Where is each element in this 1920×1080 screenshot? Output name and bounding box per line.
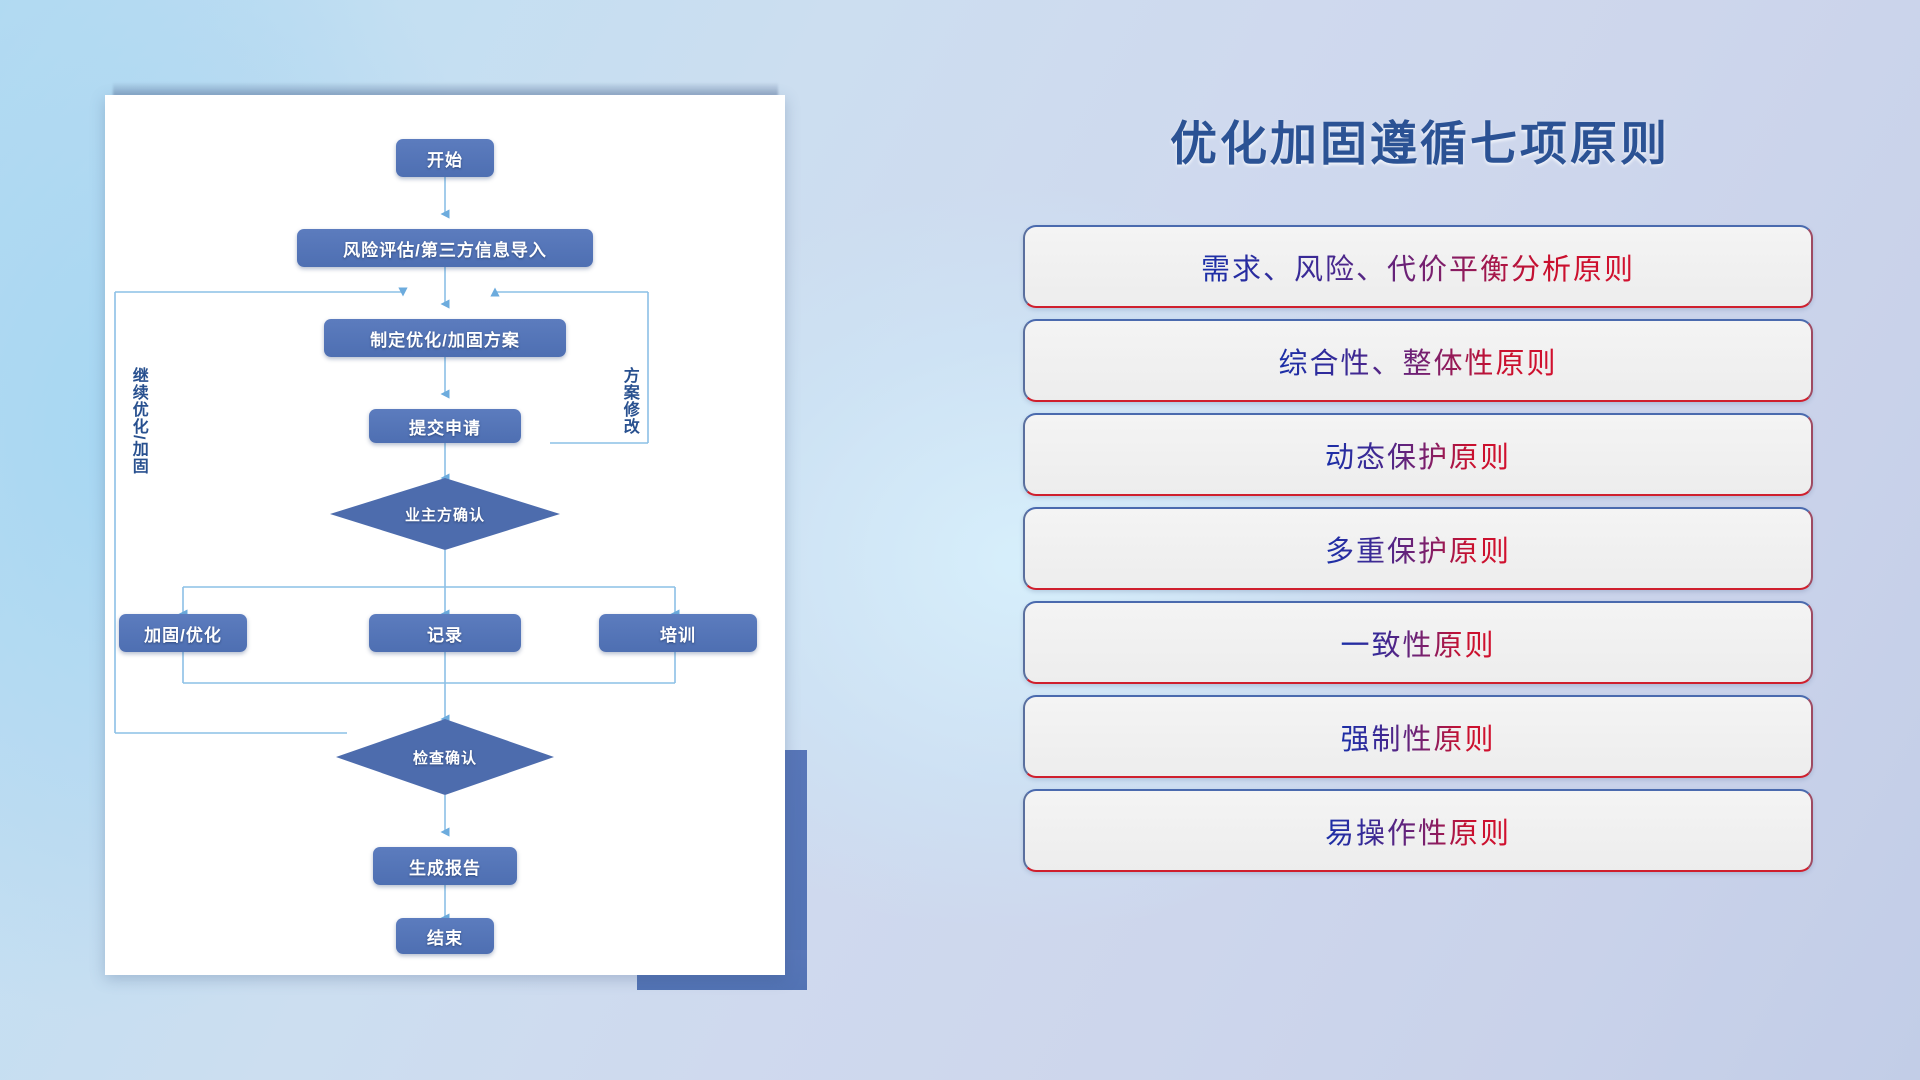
principle-card-1-label: 需求、风险、代价平衡分析原则 xyxy=(1201,246,1635,288)
flow-node-make-plan[interactable]: 制定优化/加固方案 xyxy=(324,319,566,357)
page-title: 优化加固遵循七项原则 xyxy=(1000,105,1840,174)
flow-node-record[interactable]: 记录 xyxy=(369,614,521,652)
principle-card-3[interactable]: 动态保护原则 xyxy=(1023,413,1813,496)
flow-node-training[interactable]: 培训 xyxy=(599,614,757,652)
principle-card-5[interactable]: 一致性原则 xyxy=(1023,601,1813,684)
flow-node-risk-assess[interactable]: 风险评估/第三方信息导入 xyxy=(297,229,593,267)
flow-node-check-confirm[interactable]: 检查确认 xyxy=(336,719,554,795)
principles-panel: 优化加固遵循七项原则 需求、风险、代价平衡分析原则 综合性、整体性原则 动态保护… xyxy=(1000,0,1920,1080)
principle-card-7-label: 易操作性原则 xyxy=(1325,810,1511,852)
principle-card-6[interactable]: 强制性原则 xyxy=(1023,695,1813,778)
flow-node-check-confirm-label: 检查确认 xyxy=(413,747,477,768)
principle-card-3-label: 动态保护原则 xyxy=(1325,434,1511,476)
principle-card-5-label: 一致性原则 xyxy=(1340,622,1495,664)
vertical-label-continue-optimize: 继续优化/加固 xyxy=(129,367,146,527)
flow-node-owner-confirm[interactable]: 业主方确认 xyxy=(330,478,560,550)
principle-card-2[interactable]: 综合性、整体性原则 xyxy=(1023,319,1813,402)
flow-node-gen-report[interactable]: 生成报告 xyxy=(373,847,517,885)
principles-card-list: 需求、风险、代价平衡分析原则 综合性、整体性原则 动态保护原则 多重保护原则 一… xyxy=(1023,225,1813,883)
flow-node-owner-confirm-label: 业主方确认 xyxy=(405,504,485,525)
flowchart-panel: 继续优化/加固 方案修改 开始 风险评估/第三方信息导入 制定优化/加固方案 提… xyxy=(0,0,900,1080)
principle-card-4-label: 多重保护原则 xyxy=(1325,528,1511,570)
principle-card-7[interactable]: 易操作性原则 xyxy=(1023,789,1813,872)
principle-card-2-label: 综合性、整体性原则 xyxy=(1278,340,1557,382)
flow-node-reinforce[interactable]: 加固/优化 xyxy=(119,614,247,652)
principle-card-6-label: 强制性原则 xyxy=(1340,716,1495,758)
principle-card-1[interactable]: 需求、风险、代价平衡分析原则 xyxy=(1023,225,1813,308)
principle-card-4[interactable]: 多重保护原则 xyxy=(1023,507,1813,590)
flow-node-start[interactable]: 开始 xyxy=(396,139,494,177)
vertical-label-plan-revise: 方案修改 xyxy=(620,367,637,497)
flow-node-end[interactable]: 结束 xyxy=(396,918,494,954)
flowchart: 继续优化/加固 方案修改 开始 风险评估/第三方信息导入 制定优化/加固方案 提… xyxy=(105,95,785,975)
flow-node-submit[interactable]: 提交申请 xyxy=(369,409,521,443)
